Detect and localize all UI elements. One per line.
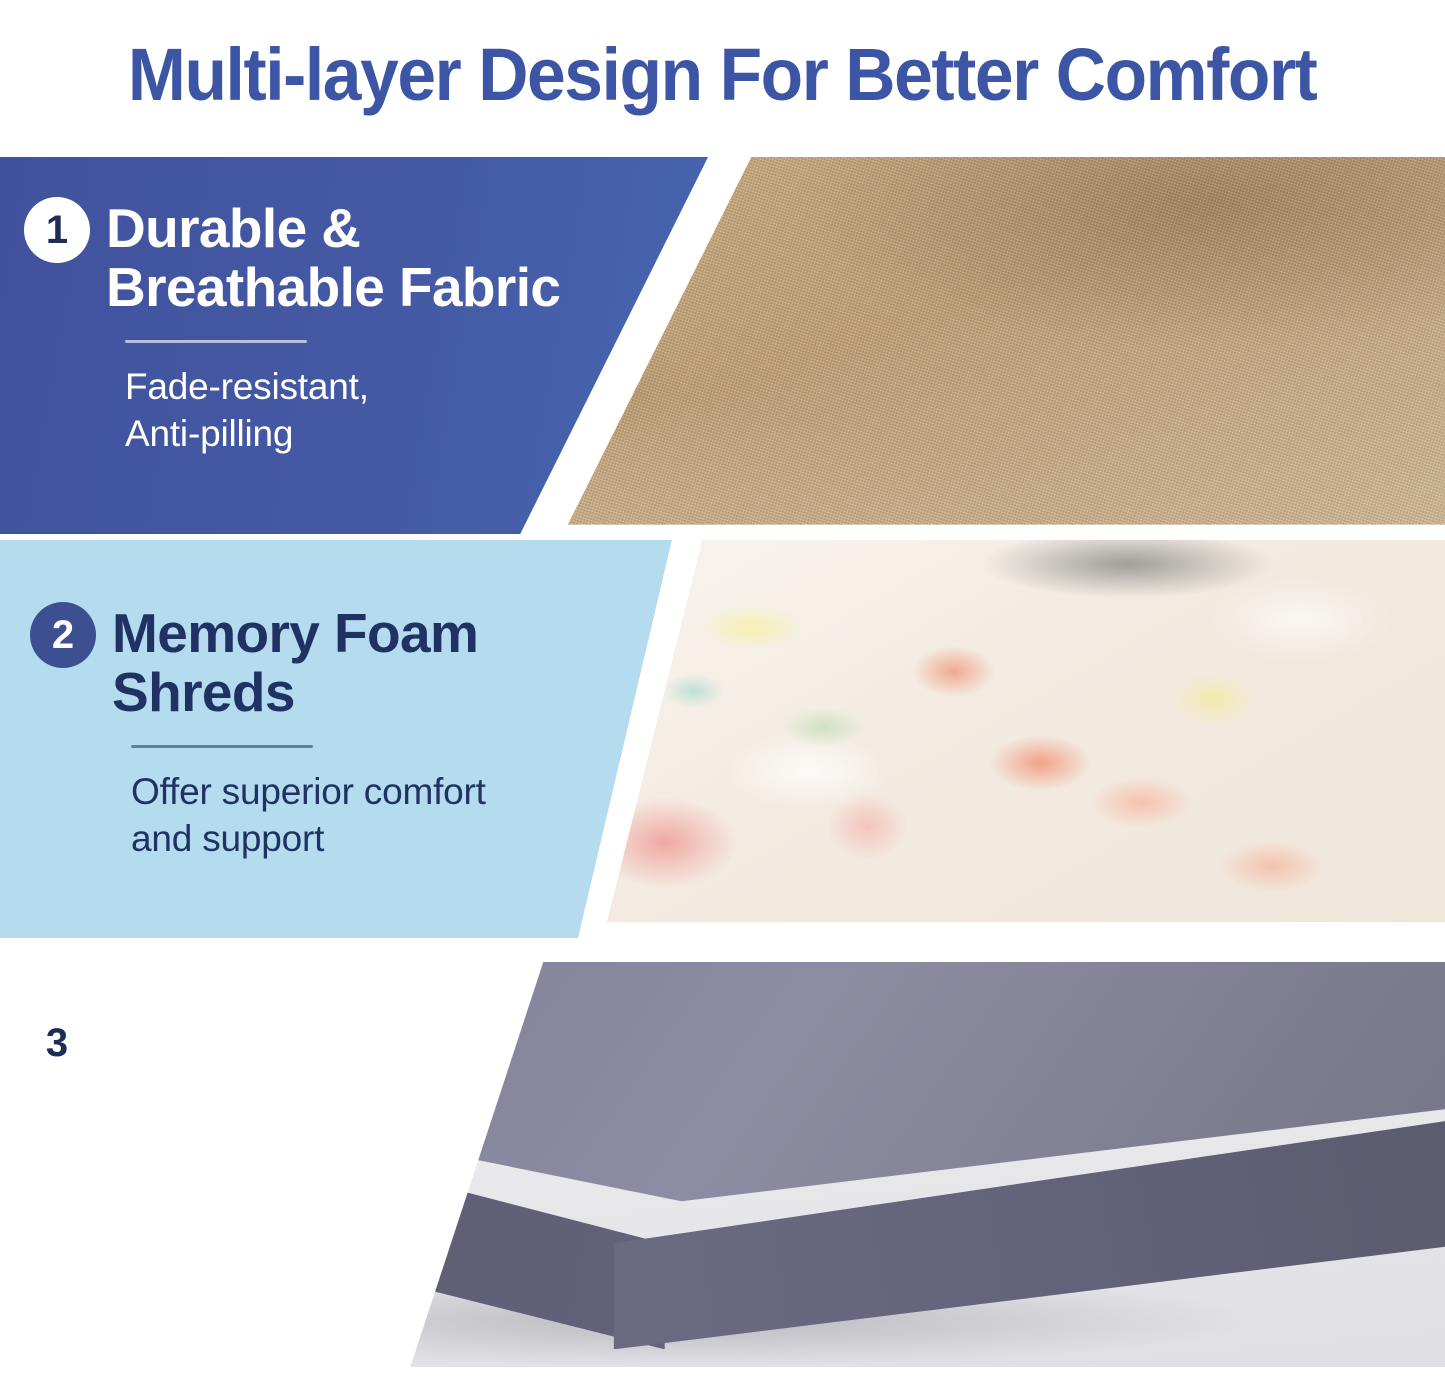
- feature-panel-1: 1 Durable & Breathable Fabric Fade-resis…: [0, 157, 1445, 534]
- panel-2-heading-row: 2 Memory Foam Shreds: [30, 602, 486, 723]
- panel-1-subtext: Fade-resistant, Anti-pilling: [125, 363, 560, 458]
- panel-3-subtext: Relieve pressure on your hips and tailbo…: [125, 1176, 450, 1318]
- panel-1-text-block: 1 Durable & Breathable Fabric Fade-resis…: [24, 197, 560, 458]
- page-title: Multi-layer Design For Better Comfort: [128, 38, 1316, 112]
- panel-3-heading-row: 3 High Density Foam: [24, 1010, 450, 1131]
- panel-2-subtext: Offer superior comfort and support: [131, 768, 486, 863]
- panel-2-divider: [131, 745, 313, 748]
- title-bar: Multi-layer Design For Better Comfort: [0, 0, 1445, 150]
- step-badge-2: 2: [30, 602, 96, 668]
- step-badge-1: 1: [24, 197, 90, 263]
- panel-3-text-block: 3 High Density Foam Relieve pressure on …: [24, 1010, 450, 1318]
- panel-1-heading: Durable & Breathable Fabric: [106, 197, 560, 318]
- panel-1-heading-row: 1 Durable & Breathable Fabric: [24, 197, 560, 318]
- panel-3-divider: [125, 1153, 307, 1156]
- infographic-root: Multi-layer Design For Better Comfort 1 …: [0, 0, 1445, 1383]
- panel-3-heading: High Density Foam: [106, 1010, 435, 1131]
- panel-1-divider: [125, 340, 307, 343]
- feature-panel-3: 3 High Density Foam Relieve pressure on …: [0, 962, 1445, 1383]
- panel-2-heading: Memory Foam Shreds: [112, 602, 478, 723]
- panel-2-text-block: 2 Memory Foam Shreds Offer superior comf…: [30, 602, 486, 863]
- feature-panel-2: 2 Memory Foam Shreds Offer superior comf…: [0, 540, 1445, 938]
- step-badge-3: 3: [24, 1010, 90, 1076]
